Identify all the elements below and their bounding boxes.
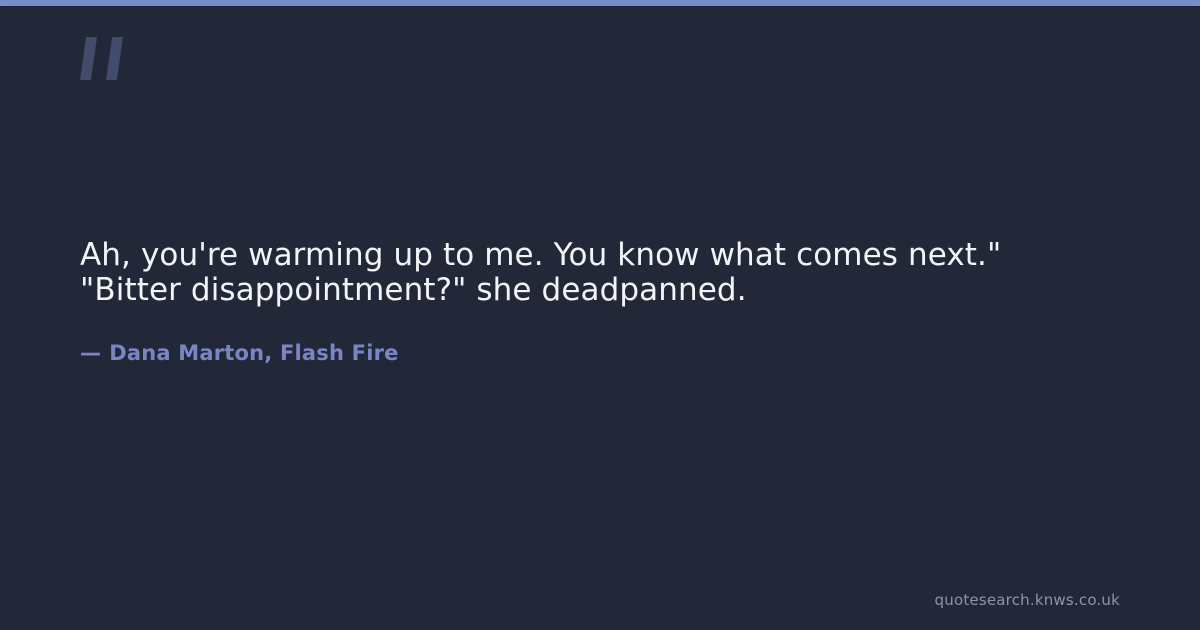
quote-card: Ah, you're warming up to me. You know wh… xyxy=(0,0,1200,630)
quote-stroke-left xyxy=(80,37,97,80)
top-accent-bar xyxy=(0,0,1200,6)
attribution-dash: — xyxy=(80,341,101,365)
inner-panel xyxy=(8,6,1192,630)
footer-watermark: quotesearch.knws.co.uk xyxy=(935,590,1120,610)
quote-text: Ah, you're warming up to me. You know wh… xyxy=(80,238,1080,308)
quote-stroke-right xyxy=(106,37,123,80)
double-quote-open-icon xyxy=(80,37,132,80)
quote-attribution: —Dana Marton, Flash Fire xyxy=(80,340,399,366)
attribution-separator: , xyxy=(264,341,280,365)
attribution-work: Flash Fire xyxy=(280,341,399,365)
attribution-author-work: Dana Marton, Flash Fire xyxy=(109,341,398,365)
attribution-author: Dana Marton xyxy=(109,341,264,365)
